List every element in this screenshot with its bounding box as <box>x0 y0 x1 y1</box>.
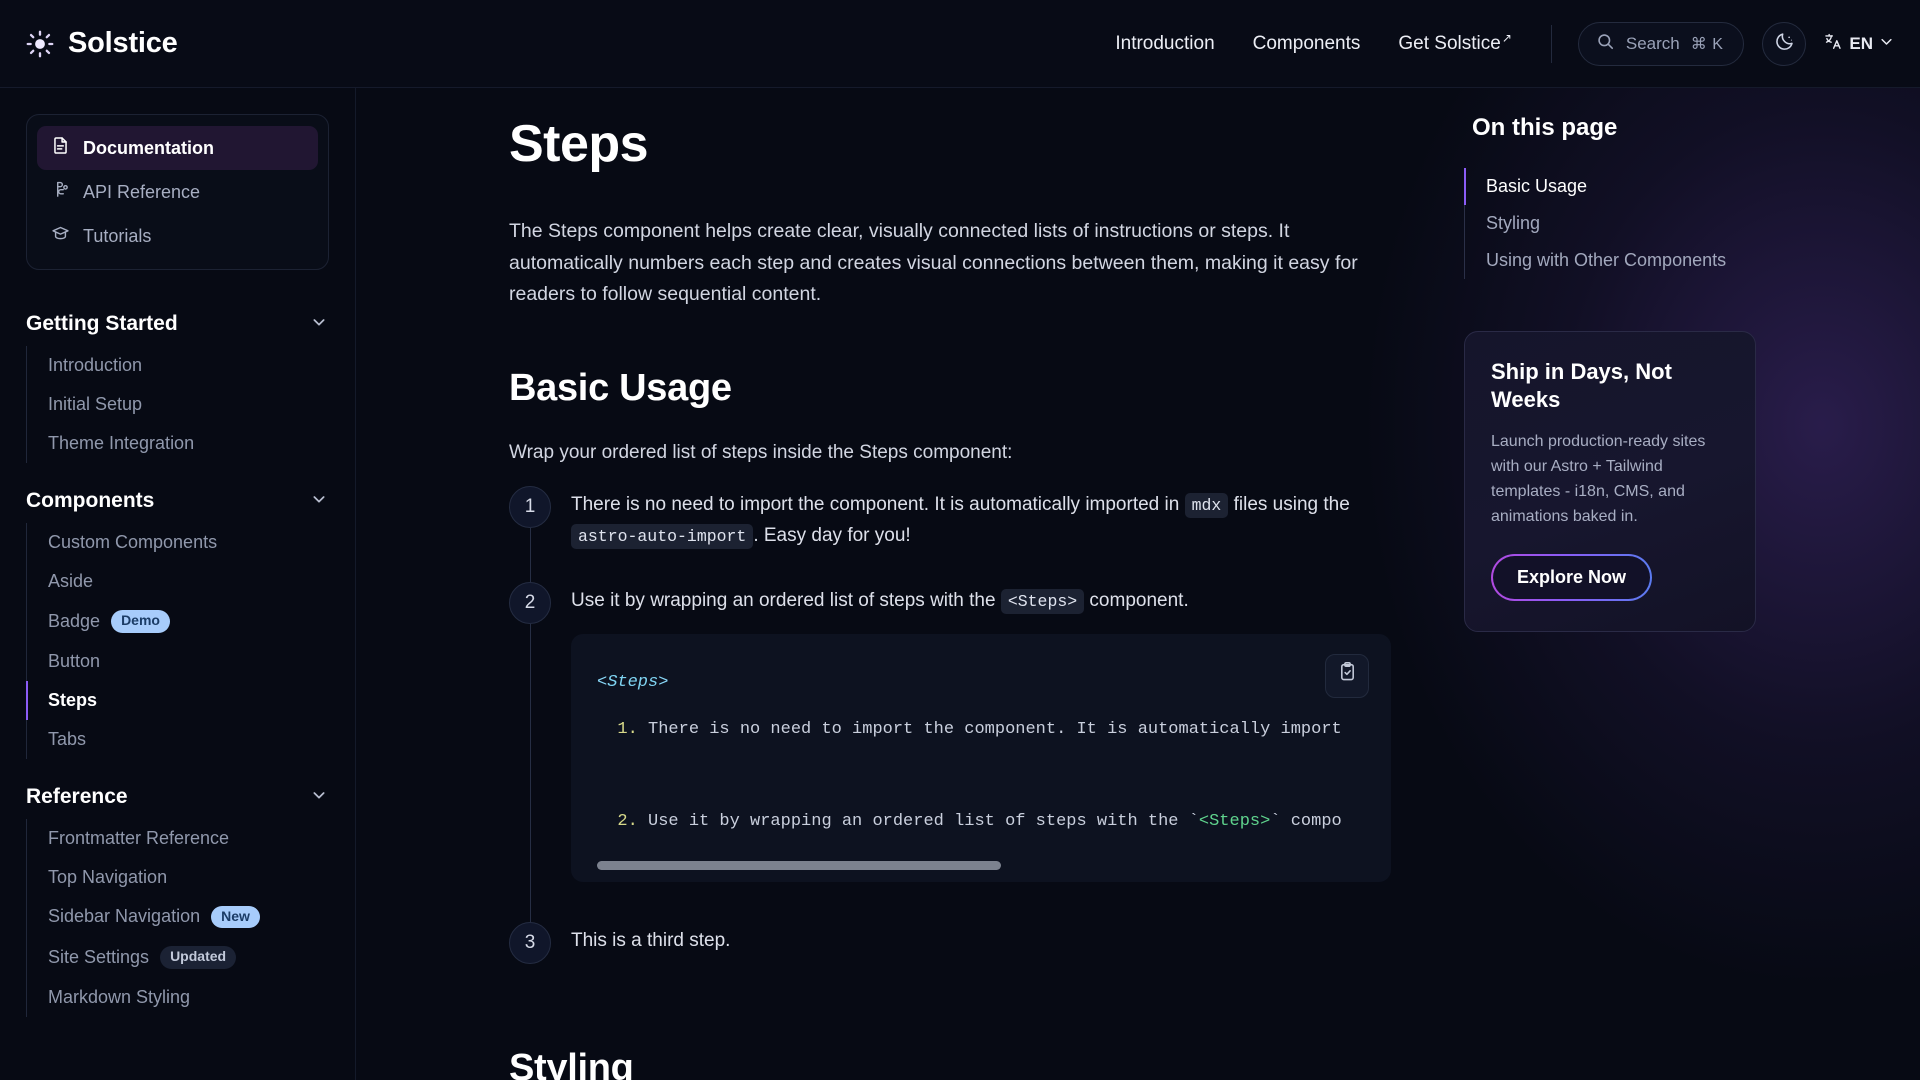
explore-now-button-label: Explore Now <box>1493 556 1650 599</box>
step-marker: 3 <box>509 922 551 964</box>
right-rail: On this page Basic Usage Styling Using w… <box>1456 88 1920 1080</box>
step-marker: 1 <box>509 486 551 528</box>
sidebar-item-label: Site Settings <box>48 947 149 968</box>
step-text: Use it by wrapping an ordered list of st… <box>571 590 1001 611</box>
toc-item-styling[interactable]: Styling <box>1464 205 1860 242</box>
sidebar-item-label: Sidebar Navigation <box>48 906 200 927</box>
code-token: There is no need to import the component… <box>638 720 1342 739</box>
sidebar-item-label: Aside <box>48 571 93 592</box>
sidebar-item-sidebar-navigation[interactable]: Sidebar Navigation New <box>26 897 329 938</box>
sidebar-item-label: Frontmatter Reference <box>48 828 229 849</box>
code-token: < <box>597 673 607 692</box>
file-doc-icon <box>51 136 70 160</box>
theme-toggle-button[interactable] <box>1762 22 1806 66</box>
toc-item-label: Using with Other Components <box>1486 250 1726 270</box>
nav-link-introduction-label: Introduction <box>1115 33 1214 54</box>
sidebar-group-getting-started-title: Getting Started <box>26 312 178 336</box>
code-token: Steps <box>607 673 658 692</box>
sidebar-item-tabs[interactable]: Tabs <box>26 720 329 759</box>
steps-list: 1 There is no need to import the compone… <box>509 490 1376 991</box>
sidebar-item-introduction[interactable]: Introduction <box>26 346 329 385</box>
chevron-down-icon <box>311 785 327 809</box>
nav-link-get-solstice-label: Get Solstice <box>1398 33 1500 54</box>
basic-usage-intro: Wrap your ordered list of steps inside t… <box>509 438 1376 468</box>
table-of-contents: Basic Usage Styling Using with Other Com… <box>1464 168 1860 279</box>
step-body: Use it by wrapping an ordered list of st… <box>571 586 1391 921</box>
search-placeholder: Search <box>1626 34 1680 54</box>
sidebar: Documentation API Reference Tutorials <box>0 88 356 1080</box>
sidebar-item-custom-components[interactable]: Custom Components <box>26 523 329 562</box>
inline-code: <Steps> <box>1001 589 1084 614</box>
heading-styling: Styling <box>509 1047 1376 1080</box>
nav-link-components-label: Components <box>1253 33 1361 54</box>
toc-item-label: Styling <box>1486 213 1540 233</box>
sidebar-item-site-settings[interactable]: Site Settings Updated <box>26 937 329 978</box>
code-token: ` compo <box>1270 812 1341 831</box>
search-input[interactable]: Search ⌘ K <box>1578 22 1745 66</box>
code-token: <Steps> <box>1199 812 1270 831</box>
step-body: This is a third step. <box>571 926 1376 985</box>
header-divider <box>1551 25 1552 63</box>
header-nav: Introduction Components Get Solstice↗ <box>1115 33 1511 55</box>
sidebar-item-api-reference-label: API Reference <box>83 182 200 203</box>
page-title: Steps <box>509 114 1376 174</box>
nav-link-introduction[interactable]: Introduction <box>1115 33 1214 55</box>
toc-item-using-with-other-components[interactable]: Using with Other Components <box>1464 242 1860 279</box>
clipboard-check-icon <box>1337 661 1358 693</box>
external-link-icon: ↗ <box>1502 31 1512 45</box>
step-item: 1 There is no need to import the compone… <box>509 490 1376 586</box>
promo-text: Launch production-ready sites with our A… <box>1491 430 1729 529</box>
sidebar-group-reference-items: Frontmatter Reference Top Navigation Sid… <box>26 819 329 1017</box>
step-text: There is no need to import the component… <box>571 494 1185 515</box>
main-content: Steps The Steps component helps create c… <box>356 88 1456 1080</box>
api-plug-icon <box>51 180 70 204</box>
chevron-down-icon <box>1879 34 1894 54</box>
sidebar-item-label: Button <box>48 651 100 672</box>
sidebar-item-label: Top Navigation <box>48 867 167 888</box>
sun-icon <box>26 30 54 58</box>
sidebar-item-tutorials-label: Tutorials <box>83 226 151 247</box>
code-token: 2. <box>617 812 637 831</box>
language-selector[interactable]: EN <box>1824 32 1894 56</box>
nav-link-components[interactable]: Components <box>1253 33 1361 55</box>
code-content: <Steps> 1. There is no need to import th… <box>571 634 1391 882</box>
sidebar-item-initial-setup[interactable]: Initial Setup <box>26 385 329 424</box>
sidebar-group-reference-title: Reference <box>26 785 128 809</box>
language-code: EN <box>1849 34 1873 54</box>
code-token <box>597 812 617 831</box>
status-badge: Updated <box>160 946 236 969</box>
sidebar-item-aside[interactable]: Aside <box>26 562 329 601</box>
brand-name: Solstice <box>68 27 178 60</box>
sidebar-item-documentation[interactable]: Documentation <box>37 126 318 170</box>
code-scrollbar-thumb[interactable] <box>597 861 1001 870</box>
translate-icon <box>1824 32 1843 56</box>
sidebar-item-tutorials[interactable]: Tutorials <box>37 214 318 258</box>
search-shortcut: ⌘ K <box>1691 34 1724 54</box>
page-lead: The Steps component helps create clear, … <box>509 216 1359 311</box>
search-icon <box>1596 32 1615 56</box>
sidebar-item-label: Custom Components <box>48 532 217 553</box>
sidebar-item-markdown-styling[interactable]: Markdown Styling <box>26 978 329 1017</box>
step-body: There is no need to import the component… <box>571 490 1376 580</box>
toc-item-label: Basic Usage <box>1486 176 1587 196</box>
sidebar-group-getting-started[interactable]: Getting Started <box>26 296 329 346</box>
step-item: 3 This is a third step. <box>509 926 1376 991</box>
sidebar-nav-card: Documentation API Reference Tutorials <box>26 114 329 270</box>
sidebar-item-frontmatter-reference[interactable]: Frontmatter Reference <box>26 819 329 858</box>
sidebar-item-label: Introduction <box>48 355 142 376</box>
step-text: . Easy day for you! <box>753 525 910 546</box>
code-token: 1. <box>617 720 637 739</box>
status-badge: Demo <box>111 610 170 633</box>
sidebar-item-api-reference[interactable]: API Reference <box>37 170 318 214</box>
on-this-page-title: On this page <box>1472 114 1860 142</box>
sidebar-item-label: Theme Integration <box>48 433 194 454</box>
sidebar-item-label: Badge <box>48 611 100 632</box>
inline-code: astro-auto-import <box>571 524 753 549</box>
moon-icon <box>1774 31 1795 57</box>
header-controls: Search ⌘ K EN <box>1578 22 1894 66</box>
sidebar-item-label: Initial Setup <box>48 394 142 415</box>
sidebar-group-components-title: Components <box>26 489 154 513</box>
heading-basic-usage: Basic Usage <box>509 367 1376 410</box>
sidebar-item-documentation-label: Documentation <box>83 138 214 159</box>
explore-now-button[interactable]: Explore Now <box>1491 554 1652 601</box>
code-token: Use it by wrapping an ordered list of st… <box>638 812 1199 831</box>
step-text: files using the <box>1228 494 1349 515</box>
sidebar-item-label: Markdown Styling <box>48 987 190 1008</box>
graduation-cap-icon <box>51 224 70 248</box>
sidebar-group-reference[interactable]: Reference <box>26 769 329 819</box>
sidebar-group-components[interactable]: Components <box>26 473 329 523</box>
sidebar-item-theme-integration[interactable]: Theme Integration <box>26 424 329 463</box>
code-block: <Steps> 1. There is no need to import th… <box>571 634 1391 882</box>
status-badge: New <box>211 906 260 929</box>
toc-item-basic-usage[interactable]: Basic Usage <box>1464 168 1860 205</box>
promo-card: Ship in Days, Not Weeks Launch productio… <box>1464 331 1756 632</box>
promo-title: Ship in Days, Not Weeks <box>1491 358 1729 414</box>
sidebar-item-button[interactable]: Button <box>26 642 329 681</box>
step-item: 2 Use it by wrapping an ordered list of … <box>509 586 1376 927</box>
code-token: > <box>658 673 668 692</box>
sidebar-item-steps[interactable]: Steps <box>26 681 329 720</box>
step-text: This is a third step. <box>571 930 730 951</box>
code-token <box>597 720 617 739</box>
sidebar-item-badge[interactable]: Badge Demo <box>26 601 329 642</box>
chevron-down-icon <box>311 312 327 336</box>
step-marker: 2 <box>509 582 551 624</box>
step-connector-line <box>530 624 531 937</box>
sidebar-group-components-items: Custom Components Aside Badge Demo Butto… <box>26 523 329 759</box>
copy-code-button[interactable] <box>1325 654 1369 698</box>
sidebar-item-label: Steps <box>48 690 97 711</box>
brand-logo[interactable]: Solstice <box>26 27 178 60</box>
code-horizontal-scrollbar[interactable] <box>597 861 1353 870</box>
chevron-down-icon <box>311 489 327 513</box>
sidebar-item-label: Tabs <box>48 729 86 750</box>
nav-link-get-solstice[interactable]: Get Solstice↗ <box>1398 33 1511 55</box>
top-header: Solstice Introduction Components Get Sol… <box>0 0 1920 88</box>
inline-code: mdx <box>1185 493 1229 518</box>
sidebar-group-getting-started-items: Introduction Initial Setup Theme Integra… <box>26 346 329 463</box>
step-text: component. <box>1084 590 1189 611</box>
sidebar-item-top-navigation[interactable]: Top Navigation <box>26 858 329 897</box>
